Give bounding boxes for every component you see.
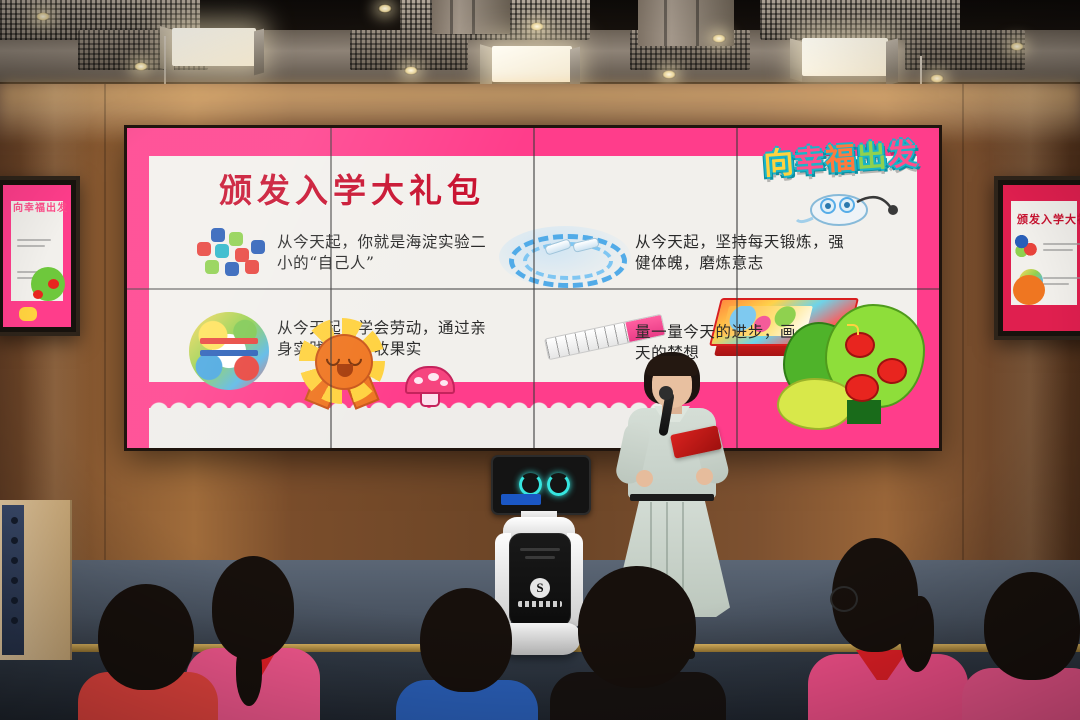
cabinet-panel [2,505,24,655]
spotlight-wing [254,29,264,76]
presenter-belt [630,494,714,501]
downlight [662,70,676,79]
downlight [134,62,148,71]
slide-title: 颁发入学大礼包 [219,164,485,212]
ceiling-duct [432,0,510,34]
stage-spotlight [172,28,256,66]
perforated-panel [350,30,468,70]
led-video-wall[interactable]: 颁发入学大礼包 向幸福出发 [127,128,939,448]
right-wall-monitor[interactable]: 颁发入学大礼包 [994,176,1080,340]
spotlight-wing [480,44,492,87]
downlight [36,12,50,21]
list-item [392,588,542,720]
list-item [962,572,1080,720]
perforated-panel [905,30,1025,70]
right-monitor-title: 颁发入学大礼包 [1017,211,1080,227]
panel-bezel [127,288,939,290]
mushroom-icon [405,366,451,404]
microphone-head [659,386,673,400]
left-monitor-logo: 向幸福出发 [13,199,68,214]
activity-sticker-icon [189,312,269,390]
auditorium-scene: 向幸福出发 颁发入学大礼包 [0,0,1080,720]
apple-tree-icon [783,296,933,424]
people-puzzle-icon [189,228,275,284]
right-monitor-people-icon [1015,235,1037,257]
slide-item-1-text: 从今天起，你就是海淀实验二小的“自己人” [277,232,497,274]
downlight [1010,42,1024,51]
downlight [712,34,726,43]
robot-head-screen [491,455,591,515]
jump-rope-icon [499,226,631,288]
robot-screen-badge [501,494,541,505]
downlight [378,4,392,13]
spotlight-wing [790,38,802,81]
downlight [404,66,418,75]
rocket-dog-sketch-icon [795,182,905,234]
list-item [548,566,728,720]
right-monitor-sunflower-icon [1013,275,1045,305]
ceiling [0,0,1080,96]
slide-item-2-text: 从今天起，坚持每天锻炼，强健体魄，磨炼意志 [635,232,845,274]
eyeglasses-icon [830,586,858,612]
left-wall-monitor[interactable]: 向幸福出发 [0,176,80,336]
presentation-slide: 颁发入学大礼包 向幸福出发 [127,128,939,448]
sunflower-icon [291,310,395,410]
stage-spotlight [802,38,888,76]
slide-ground [149,408,671,448]
spotlight-wing [886,38,898,85]
list-item [72,584,222,720]
list-item [808,538,968,720]
right-monitor-screen: 颁发入学大礼包 [1003,185,1080,331]
downlight [530,22,544,31]
downlight [930,74,944,83]
left-monitor-screen: 向幸福出发 [3,185,71,327]
stage-spotlight [492,46,572,82]
